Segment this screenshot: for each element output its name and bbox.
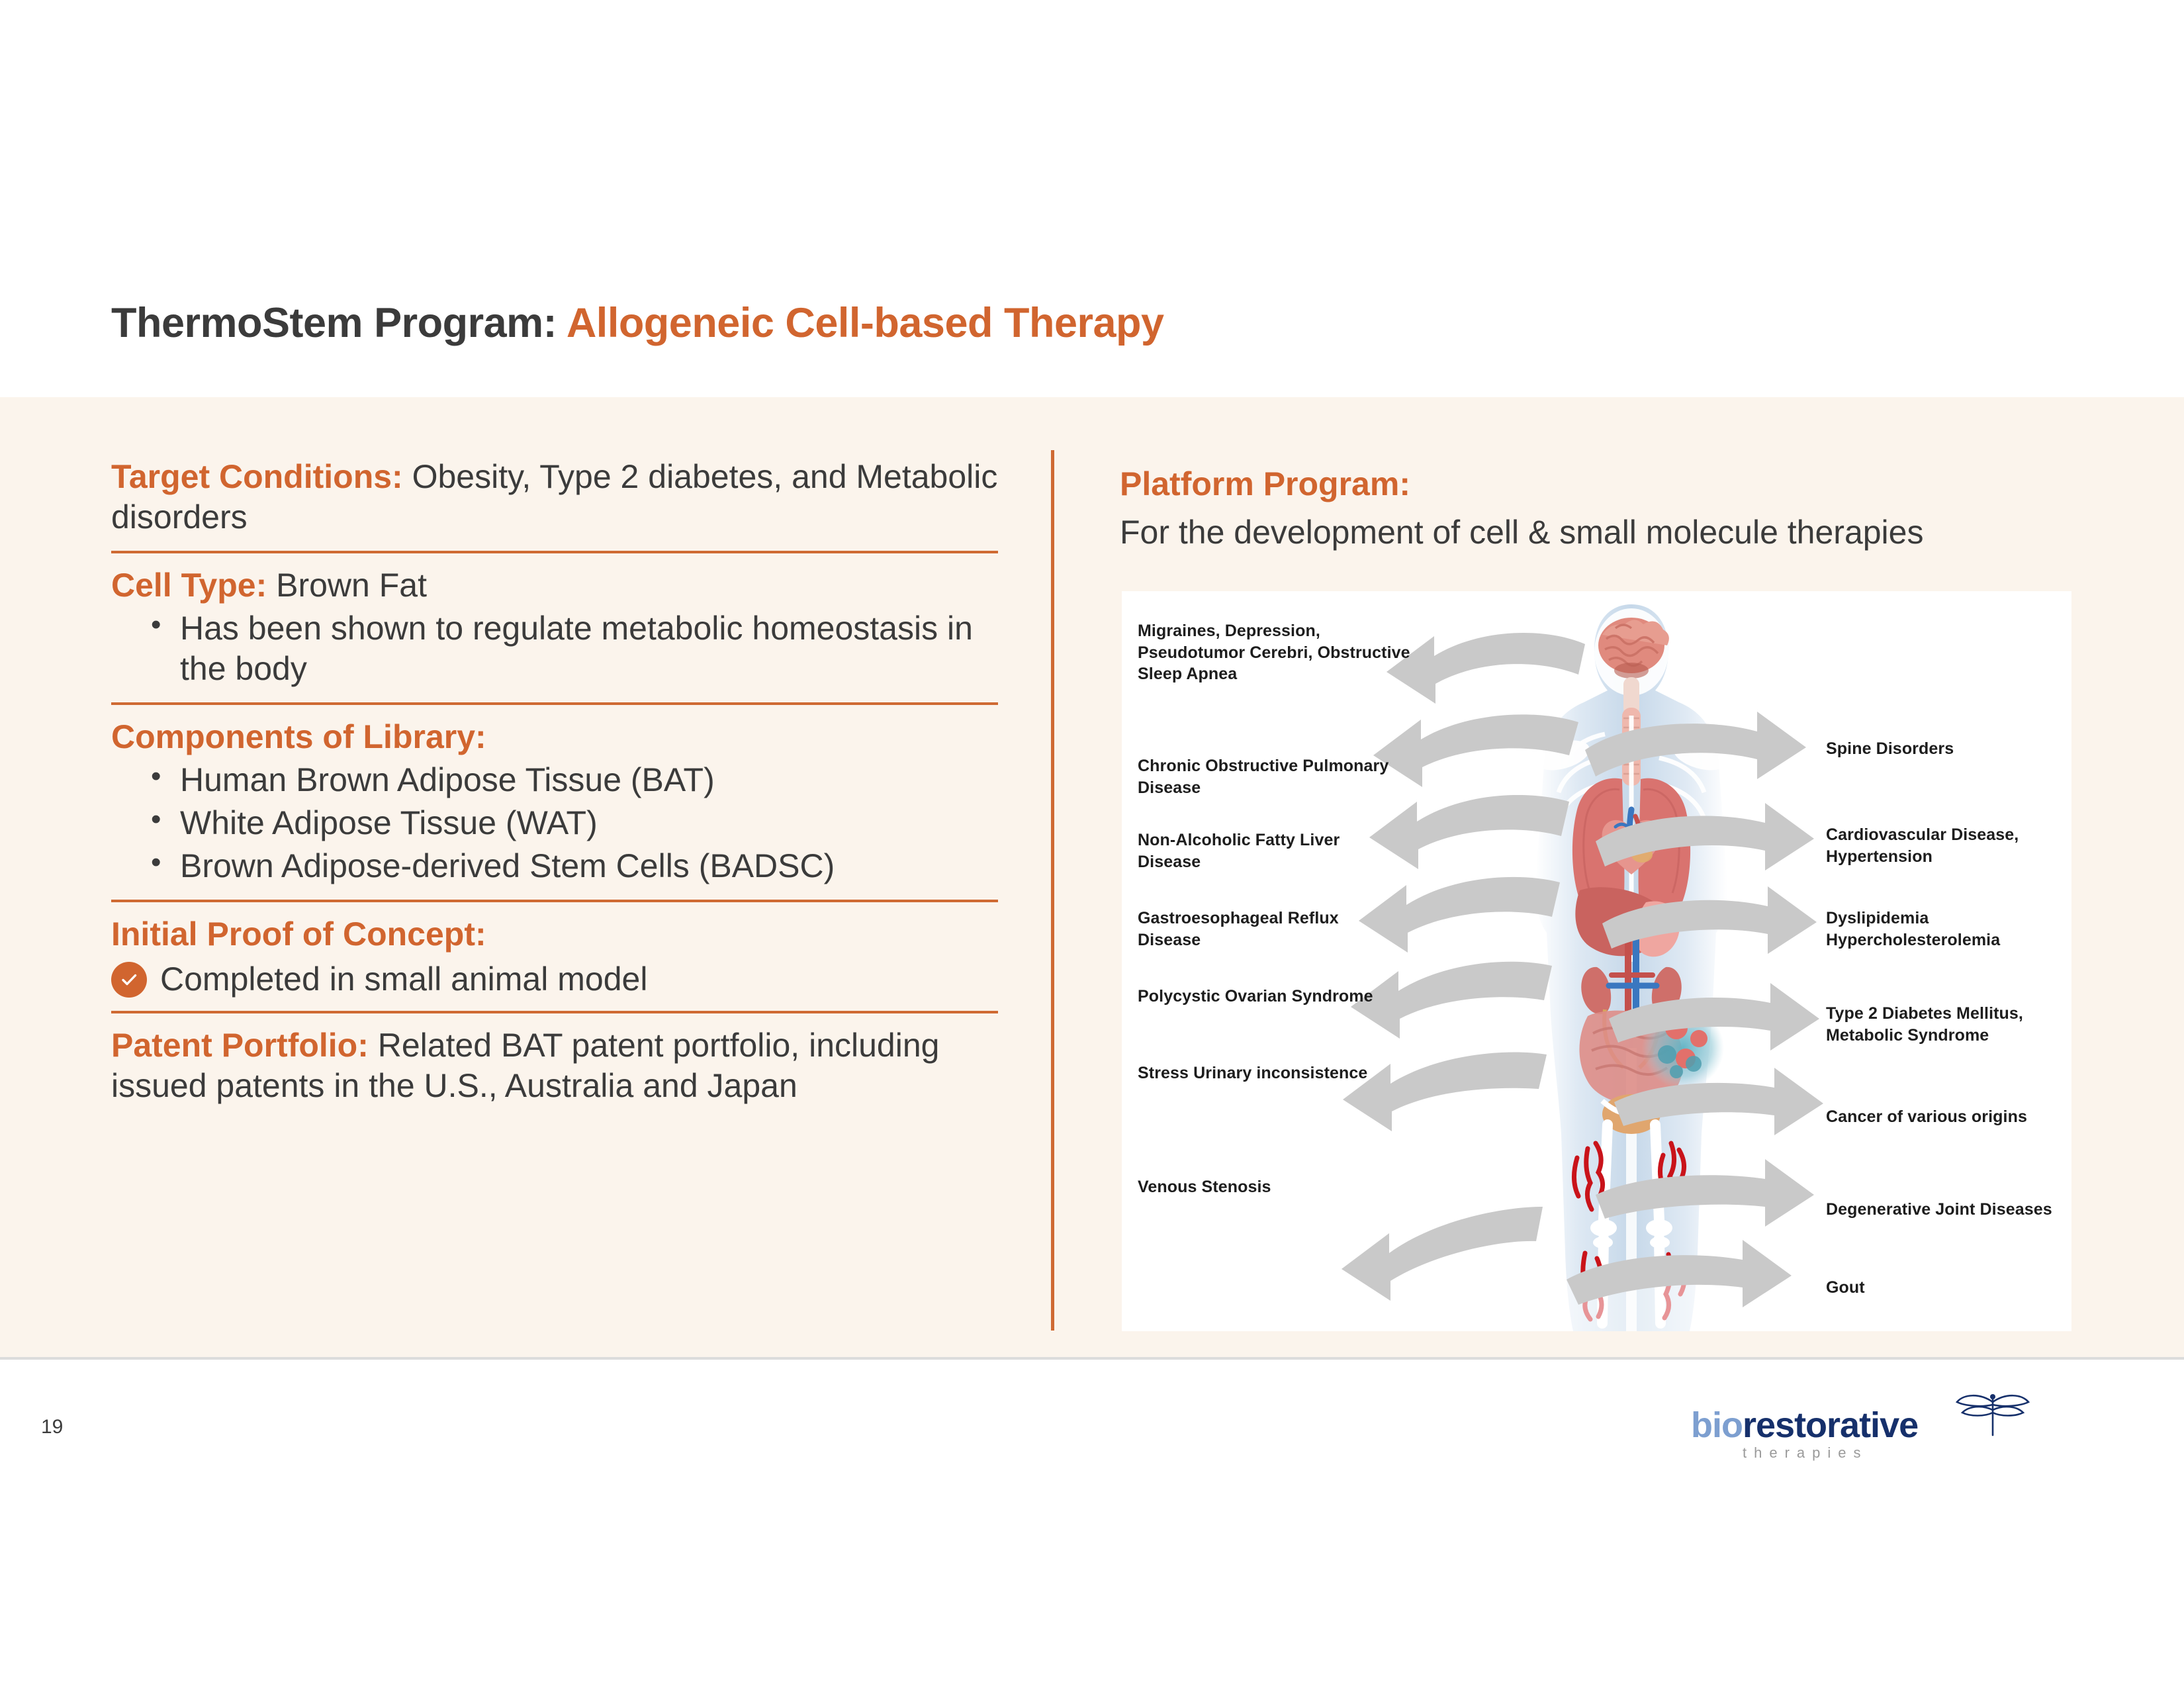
diagram-label-right-3: Type 2 Diabetes Mellitus, Metabolic Synd… [1826,1003,2064,1046]
section-components-of-library: Components of Library: Human Brown Adipo… [111,717,998,886]
cell-type-text: Brown Fat [267,567,427,604]
diagram-label-right-6: Gout [1826,1277,2064,1299]
diagram-label-left-1: Chronic Obstructive Pulmonary Disease [1138,755,1389,798]
dragonfly-icon [1953,1390,2032,1440]
left-content-column: Target Conditions: Obesity, Type 2 diabe… [111,457,998,1106]
components-bullets: Human Brown Adipose Tissue (BAT) White A… [111,760,998,886]
patent-portfolio-heading: Patent Portfolio: [111,1027,369,1064]
diagram-label-right-1: Cardiovascular Disease, Hypertension [1826,824,2064,867]
proof-of-concept-heading: Initial Proof of Concept: [111,914,998,955]
logo-restorative-text: restorative [1743,1405,1918,1445]
section-divider-2 [111,702,998,705]
platform-program-heading: Platform Program: [1120,463,2139,505]
target-conditions-heading: Target Conditions: [111,458,403,495]
diagram-label-left-3: Gastroesophageal Reflux Disease [1138,908,1389,951]
section-patent-portfolio: Patent Portfolio: Related BAT patent por… [111,1025,998,1106]
section-divider-3 [111,900,998,902]
logo-bio-text: bio [1691,1405,1743,1445]
diagram-label-left-2: Non-Alcoholic Fatty Liver Disease [1138,829,1389,872]
list-item: Has been shown to regulate metabolic hom… [151,608,998,689]
diagram-label-left-5: Stress Urinary inconsistence [1138,1062,1389,1084]
check-circle-icon [111,962,147,998]
platform-program-subheading: For the development of cell & small mole… [1120,512,2139,553]
section-target-conditions: Target Conditions: Obesity, Type 2 diabe… [111,457,998,538]
components-heading: Components of Library: [111,717,998,757]
diagram-label-left-0: Migraines, Depression, Pseudotumor Cereb… [1138,620,1416,685]
list-item: Human Brown Adipose Tissue (BAT) [151,760,998,800]
page-title-accent: Allogeneic Cell-based Therapy [567,300,1164,346]
proof-of-concept-text: Completed in small animal model [160,961,647,998]
proof-of-concept-row: Completed in small animal model [111,961,998,998]
section-cell-type: Cell Type: Brown Fat Has been shown to r… [111,565,998,689]
diagram-label-right-2: Dyslipidemia Hypercholesterolemia [1826,908,2064,951]
cell-type-bullets: Has been shown to regulate metabolic hom… [111,608,998,689]
company-logo: biorestorative therapies [1691,1390,2088,1476]
section-initial-proof-of-concept: Initial Proof of Concept: Completed in s… [111,914,998,998]
section-divider-4 [111,1011,998,1013]
diagram-label-right-0: Spine Disorders [1826,738,2064,760]
right-content-column: Platform Program: For the development of… [1120,463,2139,553]
band-bottom-divider [0,1357,2184,1360]
comorbidity-diagram: Migraines, Depression, Pseudotumor Cereb… [1122,591,2071,1331]
diagram-label-left-6: Venous Stenosis [1138,1176,1389,1198]
column-divider [1051,450,1054,1331]
diagram-label-right-4: Cancer of various origins [1826,1106,2064,1128]
cell-type-heading: Cell Type: [111,567,267,604]
page-title-main: ThermoStem Program: [111,300,567,346]
list-item: Brown Adipose-derived Stem Cells (BADSC) [151,846,998,886]
page-number: 19 [41,1416,63,1438]
diagram-label-left-4: Polycystic Ovarian Syndrome [1138,986,1389,1008]
section-divider-1 [111,551,998,553]
diagram-label-right-5: Degenerative Joint Diseases [1826,1199,2071,1221]
page-title: ThermoStem Program: Allogeneic Cell-base… [111,299,1164,347]
list-item: White Adipose Tissue (WAT) [151,803,998,843]
logo-tagline: therapies [1743,1444,1868,1462]
